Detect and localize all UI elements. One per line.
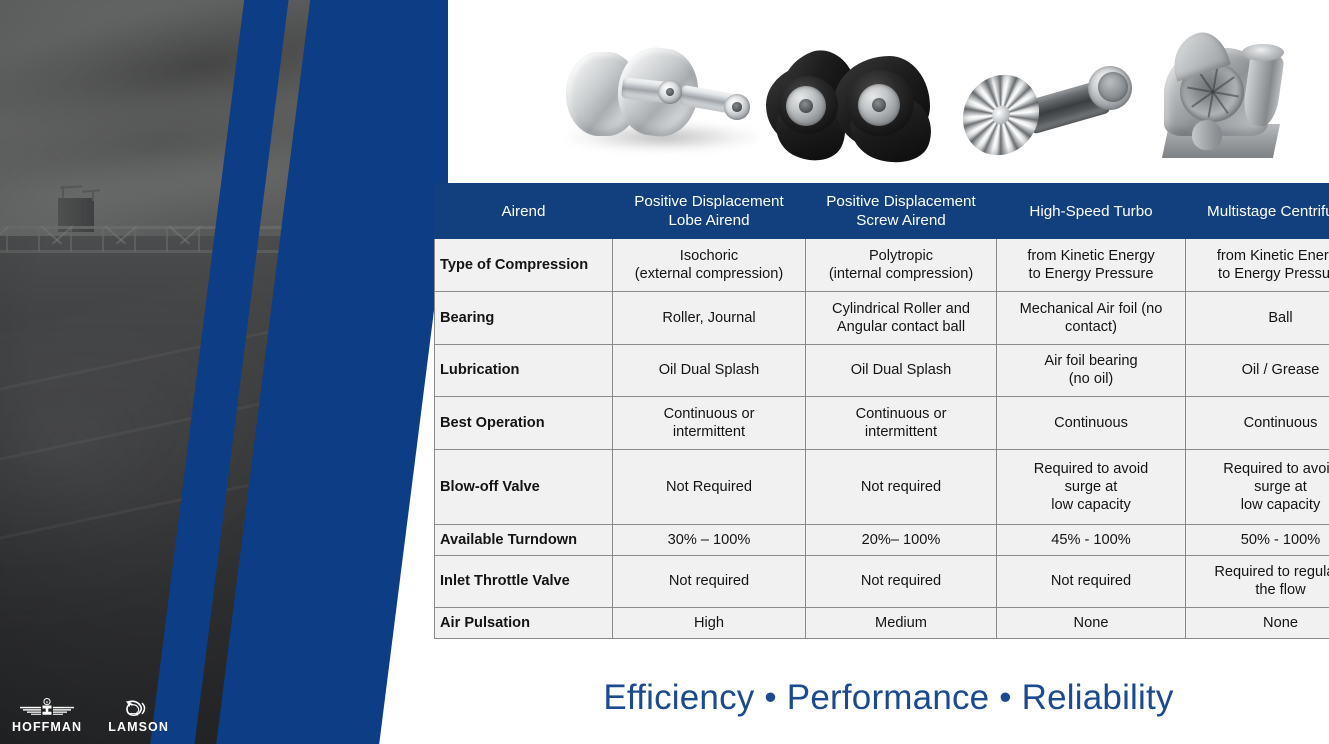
- cell-line: Ball: [1191, 309, 1329, 327]
- cell-line: from Kinetic Energy: [1191, 247, 1329, 265]
- cell-screw: Cylindrical Roller and Angular contact b…: [806, 291, 997, 344]
- cell-screw: Oil Dual Splash: [806, 344, 997, 397]
- cell-line: High: [618, 614, 800, 632]
- cell-lobe: High: [613, 608, 806, 639]
- cell-screw: Not required: [806, 555, 997, 608]
- shaft-end-hub: [658, 80, 682, 104]
- rotor-hub: [786, 86, 826, 126]
- cell-multistage: Required to avoid surge at low capacity: [1186, 450, 1329, 525]
- cell-turbo: Required to avoid surge at low capacity: [997, 450, 1186, 525]
- cell-line: low capacity: [1191, 496, 1329, 514]
- cell-line: Isochoric: [618, 247, 800, 265]
- cell-line: Angular contact ball: [811, 318, 991, 336]
- lower-pipe-stub: [1192, 120, 1222, 150]
- scroll-blower-emblem-icon: [122, 697, 156, 719]
- cell-line: Roller, Journal: [618, 309, 800, 327]
- turbo-impeller: [955, 64, 1048, 167]
- cell-line: the flow: [1191, 581, 1329, 599]
- cell-lobe: 30% – 100%: [613, 524, 806, 555]
- row-label: Lubrication: [435, 344, 613, 397]
- cell-line: 30% – 100%: [618, 531, 800, 549]
- cell-line: Polytropic: [811, 247, 991, 265]
- row-label: Best Operation: [435, 397, 613, 450]
- row-label: Bearing: [435, 291, 613, 344]
- cell-line: None: [1002, 614, 1180, 632]
- column-header-airend: Airend: [435, 184, 613, 239]
- discharge-flange: [1242, 44, 1284, 61]
- lamson-wordmark: LAMSON: [108, 720, 169, 734]
- hoffman-wordmark: HOFFMAN: [12, 720, 82, 734]
- hoffman-logo: R HOFFMAN: [12, 697, 82, 734]
- column-header-pd-lobe: Positive Displacement Lobe Airend: [613, 184, 806, 239]
- cell-line: Continuous or: [618, 405, 800, 423]
- cell-screw: Not required: [806, 450, 997, 525]
- cell-line: to Energy Pressure: [1002, 265, 1180, 283]
- table-body: Type of Compression Isochoric (external …: [435, 239, 1329, 639]
- row-label: Available Turndown: [435, 524, 613, 555]
- cell-multistage: Continuous: [1186, 397, 1329, 450]
- cell-line: Air foil bearing: [1002, 352, 1180, 370]
- cell-line: Required to avoid: [1002, 460, 1180, 478]
- airend-comparison-table: Airend Positive Displacement Lobe Airend…: [434, 183, 1329, 639]
- cell-turbo: Continuous: [997, 397, 1186, 450]
- cell-line: Continuous: [1191, 414, 1329, 432]
- header-line-1: Positive Displacement: [811, 192, 991, 211]
- row-label: Blow-off Valve: [435, 450, 613, 525]
- column-header-high-speed-turbo: High-Speed Turbo: [997, 184, 1186, 239]
- cell-line: Mechanical Air foil (no: [1002, 300, 1180, 318]
- cell-multistage: Oil / Grease: [1186, 344, 1329, 397]
- winged-h-emblem-icon: R: [18, 697, 76, 719]
- row-label: Inlet Throttle Valve: [435, 555, 613, 608]
- row-label: Air Pulsation: [435, 608, 613, 639]
- table-header: Airend Positive Displacement Lobe Airend…: [435, 184, 1329, 239]
- cell-line: 50% - 100%: [1191, 531, 1329, 549]
- table-row: Lubrication Oil Dual Splash Oil Dual Spl…: [435, 344, 1329, 397]
- cell-multistage: None: [1186, 608, 1329, 639]
- cell-line: Not required: [811, 572, 991, 590]
- product-image-lobe-airend: [560, 44, 770, 169]
- header-line-1: Positive Displacement: [618, 192, 800, 211]
- cell-multistage: Required to regulate the flow: [1186, 555, 1329, 608]
- cell-lobe: Roller, Journal: [613, 291, 806, 344]
- cell-line: Required to avoid: [1191, 460, 1329, 478]
- cell-line: surge at: [1002, 478, 1180, 496]
- cell-screw: Polytropic (internal compression): [806, 239, 997, 292]
- cell-screw: Medium: [806, 608, 997, 639]
- cell-line: Medium: [811, 614, 991, 632]
- cell-lobe: Oil Dual Splash: [613, 344, 806, 397]
- cell-screw: 20%– 100%: [806, 524, 997, 555]
- cell-line: Cylindrical Roller and: [811, 300, 991, 318]
- lamson-logo: LAMSON: [108, 697, 169, 734]
- cell-line: (external compression): [618, 265, 800, 283]
- cell-turbo: None: [997, 608, 1186, 639]
- cell-line: Oil Dual Splash: [811, 361, 991, 379]
- cell-turbo: Mechanical Air foil (no contact): [997, 291, 1186, 344]
- cell-lobe: Not required: [613, 555, 806, 608]
- cell-turbo: from Kinetic Energy to Energy Pressure: [997, 239, 1186, 292]
- cell-line: contact): [1002, 318, 1180, 336]
- table-row: Type of Compression Isochoric (external …: [435, 239, 1329, 292]
- cell-screw: Continuous or intermittent: [806, 397, 997, 450]
- cell-line: Oil / Grease: [1191, 361, 1329, 379]
- cell-line: Oil Dual Splash: [618, 361, 800, 379]
- cell-line: Required to regulate: [1191, 563, 1329, 581]
- column-header-multistage-centrifugal: Multistage Centrifugal: [1186, 184, 1329, 239]
- cell-line: Not required: [1002, 572, 1180, 590]
- rotor-hub: [858, 84, 900, 126]
- cell-line: (internal compression): [811, 265, 991, 283]
- cell-line: Not required: [618, 572, 800, 590]
- table-row: Air Pulsation High Medium None None: [435, 608, 1329, 639]
- header-line-2: Screw Airend: [811, 211, 991, 230]
- cell-lobe: Continuous or intermittent: [613, 397, 806, 450]
- cell-line: Not required: [811, 478, 991, 496]
- cell-line: Not Required: [618, 478, 800, 496]
- cell-turbo: Air foil bearing (no oil): [997, 344, 1186, 397]
- cell-multistage: from Kinetic Energy to Energy Pressure: [1186, 239, 1329, 292]
- cell-lobe: Not Required: [613, 450, 806, 525]
- cell-line: None: [1191, 614, 1329, 632]
- product-image-multistage-centrifugal: [1150, 28, 1312, 178]
- column-header-pd-screw: Positive Displacement Screw Airend: [806, 184, 997, 239]
- product-image-strip: [448, 0, 1329, 185]
- slide-tagline: Efficiency • Performance • Reliability: [448, 678, 1329, 718]
- header-line-2: Lobe Airend: [618, 211, 800, 230]
- cell-line: from Kinetic Energy: [1002, 247, 1180, 265]
- table-row: Blow-off Valve Not Required Not required…: [435, 450, 1329, 525]
- cell-turbo: 45% - 100%: [997, 524, 1186, 555]
- cell-line: Continuous: [1002, 414, 1180, 432]
- cell-line: to Energy Pressure: [1191, 265, 1329, 283]
- cell-line: low capacity: [1002, 496, 1180, 514]
- table-row: Inlet Throttle Valve Not required Not re…: [435, 555, 1329, 608]
- cell-line: Continuous or: [811, 405, 991, 423]
- cell-line: intermittent: [811, 423, 991, 441]
- product-image-screw-airend: [766, 46, 956, 168]
- table-row: Available Turndown 30% – 100% 20%– 100% …: [435, 524, 1329, 555]
- cell-line: surge at: [1191, 478, 1329, 496]
- table-header-row: Airend Positive Displacement Lobe Airend…: [435, 184, 1329, 239]
- cell-line: intermittent: [618, 423, 800, 441]
- row-label: Type of Compression: [435, 239, 613, 292]
- cell-lobe: Isochoric (external compression): [613, 239, 806, 292]
- table-row: Bearing Roller, Journal Cylindrical Roll…: [435, 291, 1329, 344]
- cell-multistage: 50% - 100%: [1186, 524, 1329, 555]
- cell-line: 20%– 100%: [811, 531, 991, 549]
- cell-line: 45% - 100%: [1002, 531, 1180, 549]
- turbo-flange-inner: [1098, 72, 1128, 102]
- product-image-high-speed-turbo: [960, 50, 1150, 168]
- cell-line: (no oil): [1002, 370, 1180, 388]
- brand-logo-bar: R HOFFMAN: [12, 697, 169, 734]
- cell-turbo: Not required: [997, 555, 1186, 608]
- table-row: Best Operation Continuous or intermitten…: [435, 397, 1329, 450]
- svg-text:R: R: [46, 700, 49, 704]
- cell-multistage: Ball: [1186, 291, 1329, 344]
- shaft-end-hub: [724, 94, 750, 120]
- left-decorative-panel: R HOFFMAN: [0, 0, 448, 744]
